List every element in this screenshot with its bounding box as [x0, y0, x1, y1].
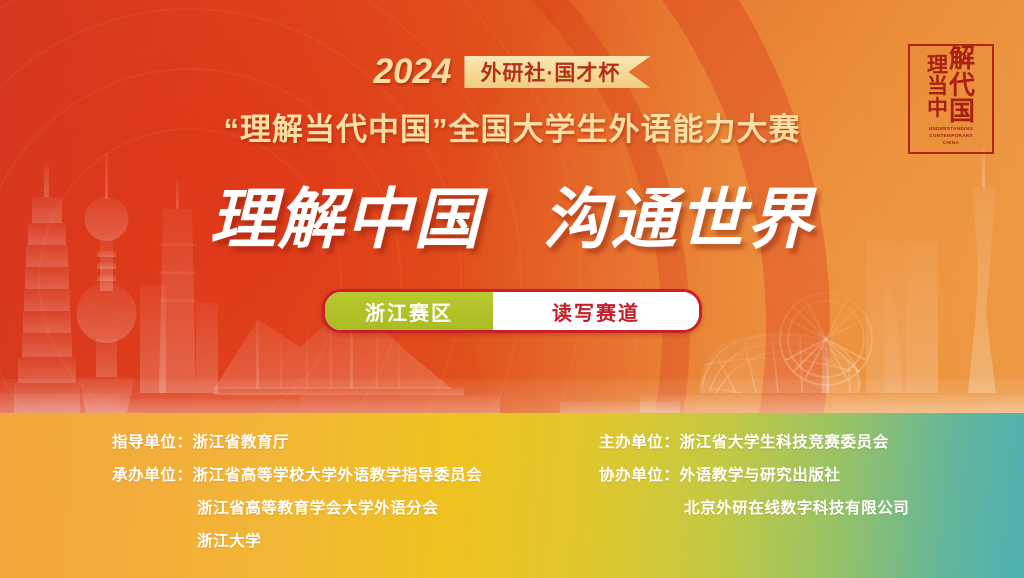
footer-left-column: 指导单位： 浙江省教育厅 承办单位： 浙江省高等学校大学外语教学指导委员会 浙江… — [0, 430, 537, 578]
footer-value-organizer-2: 浙江省高等教育学会大学外语分会 — [197, 496, 439, 518]
footer-value-host: 浙江省大学生科技竞赛委员会 — [680, 430, 889, 452]
footer-label-coorganizer: 协办单位： — [599, 463, 680, 485]
main-slogan: 理解中国 沟通世界 — [0, 166, 1024, 262]
footer-value-organizer-3: 浙江大学 — [197, 529, 261, 551]
footer-value-coorganizer-2: 北京外研在线数字科技有限公司 — [684, 496, 909, 518]
footer-row-guidance: 指导单位： 浙江省教育厅 — [112, 430, 537, 452]
footer-row-organizer-3: 浙江大学 — [112, 529, 537, 551]
footer-value-guidance: 浙江省教育厅 — [193, 430, 290, 452]
footer-row-organizer-2: 浙江省高等教育学会大学外语分会 — [112, 496, 537, 518]
competition-year: 2024 — [374, 52, 452, 92]
badge-region: 浙江赛区 — [325, 292, 493, 330]
badge-row: 浙江赛区 读写赛道 — [0, 289, 1024, 333]
footer-label-host: 主办单位： — [599, 430, 680, 452]
footer-row-organizer: 承办单位： 浙江省高等学校大学外语教学指导委员会 — [112, 463, 537, 485]
footer-value-coorganizer: 外语教学与研究出版社 — [680, 463, 841, 485]
badge-track: 读写赛道 — [493, 292, 699, 330]
footer-row-coorganizer: 协办单位： 外语教学与研究出版社 — [599, 463, 1024, 485]
footer-value-organizer: 浙江省高等学校大学外语教学指导委员会 — [193, 463, 483, 485]
footer-label-guidance: 指导单位： — [112, 430, 193, 452]
footer-right-column: 主办单位： 浙江省大学生科技竞赛委员会 协办单位： 外语教学与研究出版社 北京外… — [537, 430, 1024, 578]
competition-subtitle: “理解当代中国”全国大学生外语能力大赛 — [0, 104, 1024, 149]
poster-banner: 解 代 国 理 当 中 UNDERSTANDING CONTEMPORARY C… — [0, 0, 1024, 578]
sponsor-ribbon-label: 外研社·国才杯 — [464, 56, 650, 88]
header-year-row: 2024 外研社·国才杯 — [0, 52, 1024, 92]
footer-label-organizer: 承办单位： — [112, 463, 193, 485]
footer-organizations-bar: 指导单位： 浙江省教育厅 承办单位： 浙江省高等学校大学外语教学指导委员会 浙江… — [0, 413, 1024, 578]
footer-row-host: 主办单位： 浙江省大学生科技竞赛委员会 — [599, 430, 1024, 452]
region-track-badge: 浙江赛区 读写赛道 — [322, 289, 702, 333]
footer-row-coorganizer-2: 北京外研在线数字科技有限公司 — [599, 496, 1024, 518]
